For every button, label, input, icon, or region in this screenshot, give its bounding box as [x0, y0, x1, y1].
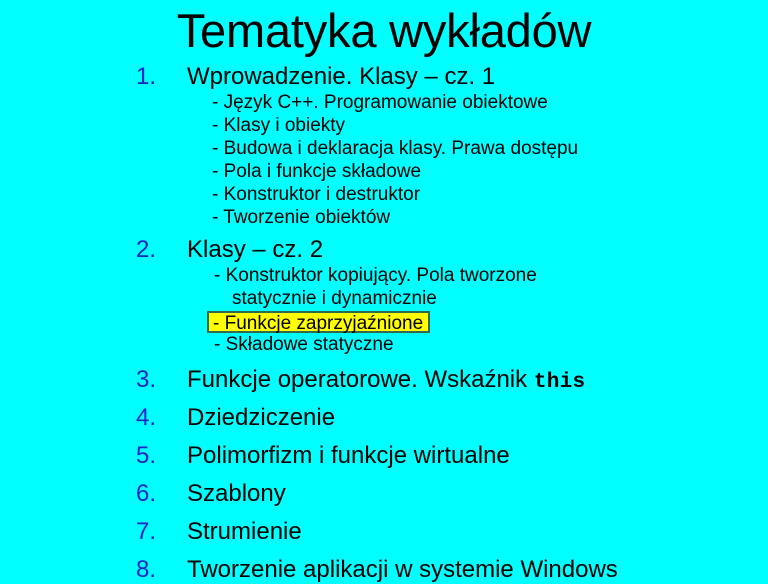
topic-number: 6.: [136, 479, 156, 508]
topic-heading: 7. Strumienie: [0, 517, 768, 546]
list-item: - Klasy i obiekty: [0, 114, 768, 137]
topic-number: 4.: [136, 403, 156, 432]
topic-heading: 8. Tworzenie aplikacji w systemie Window…: [0, 555, 768, 584]
topic-label: Funkcje operatorowe. Wskaźnik this: [187, 365, 585, 397]
topic-item-6[interactable]: 6. Szablony: [0, 479, 768, 508]
topic-heading: 1. Wprowadzenie. Klasy – cz. 1: [0, 62, 768, 91]
spacer: [0, 432, 768, 441]
list-item: - Pola i funkcje składowe: [0, 160, 768, 183]
list-item: - Budowa i deklaracja klasy. Prawa dostę…: [0, 137, 768, 160]
topic-heading: 4. Dziedziczenie: [0, 403, 768, 432]
topic-number: 8.: [136, 555, 156, 584]
list-item: - Język C++. Programowanie obiektowe: [0, 91, 768, 114]
topic-number: 1.: [136, 62, 156, 91]
topic-2-subitems: - Konstruktor kopiujący. Pola tworzone s…: [0, 264, 768, 356]
topic-item-7[interactable]: 7. Strumienie: [0, 517, 768, 546]
topic-number: 7.: [136, 517, 156, 546]
spacer: [0, 356, 768, 365]
highlight-box: - Funkcje zaprzyjaźnione: [207, 311, 430, 333]
topic-label: Strumienie: [187, 517, 302, 546]
topic-heading: 6. Szablony: [0, 479, 768, 508]
list-item: - Składowe statyczne: [0, 333, 768, 356]
topic-heading: 5. Polimorfizm i funkcje wirtualne: [0, 441, 768, 470]
list-item: - Tworzenie obiektów: [0, 206, 768, 229]
topic-label: Klasy – cz. 2: [187, 235, 323, 264]
topic-label-code: this: [534, 371, 586, 394]
highlighted-list-item[interactable]: - Funkcje zaprzyjaźnione: [0, 310, 768, 333]
topic-item-5[interactable]: 5. Polimorfizm i funkcje wirtualne: [0, 441, 768, 470]
topic-item-2[interactable]: 2. Klasy – cz. 2 - Konstruktor kopiujący…: [0, 235, 768, 356]
topic-item-8[interactable]: 8. Tworzenie aplikacji w systemie Window…: [0, 555, 768, 584]
spacer: [0, 470, 768, 479]
topic-item-1[interactable]: 1. Wprowadzenie. Klasy – cz. 1 - Język C…: [0, 62, 768, 229]
topic-label: Wprowadzenie. Klasy – cz. 1: [187, 62, 495, 91]
topic-label: Szablony: [187, 479, 286, 508]
topic-1-subitems: - Język C++. Programowanie obiektowe - K…: [0, 91, 768, 229]
topic-heading: 2. Klasy – cz. 2: [0, 235, 768, 264]
list-item: - Konstruktor i destruktor: [0, 183, 768, 206]
spacer: [0, 546, 768, 555]
topic-label: Tworzenie aplikacji w systemie Windows: [187, 555, 618, 584]
list-item-continuation: statycznie i dynamicznie: [0, 287, 768, 310]
topic-number: 2.: [136, 235, 156, 264]
topic-label-text: Funkcje operatorowe. Wskaźnik: [187, 366, 534, 393]
list-item: - Konstruktor kopiujący. Pola tworzone: [0, 264, 768, 287]
topic-number: 5.: [136, 441, 156, 470]
slide: Tematyka wykładów 1. Wprowadzenie. Klasy…: [0, 0, 768, 576]
topic-label: Polimorfizm i funkcje wirtualne: [187, 441, 510, 470]
topic-item-3[interactable]: 3. Funkcje operatorowe. Wskaźnik this: [0, 365, 768, 394]
topic-heading: 3. Funkcje operatorowe. Wskaźnik this: [0, 365, 768, 394]
topic-number: 3.: [136, 365, 156, 394]
topic-item-4[interactable]: 4. Dziedziczenie: [0, 403, 768, 432]
topic-label: Dziedziczenie: [187, 403, 335, 432]
page-title: Tematyka wykładów: [0, 2, 768, 60]
topic-list: 1. Wprowadzenie. Klasy – cz. 1 - Język C…: [0, 62, 768, 584]
spacer: [0, 508, 768, 517]
